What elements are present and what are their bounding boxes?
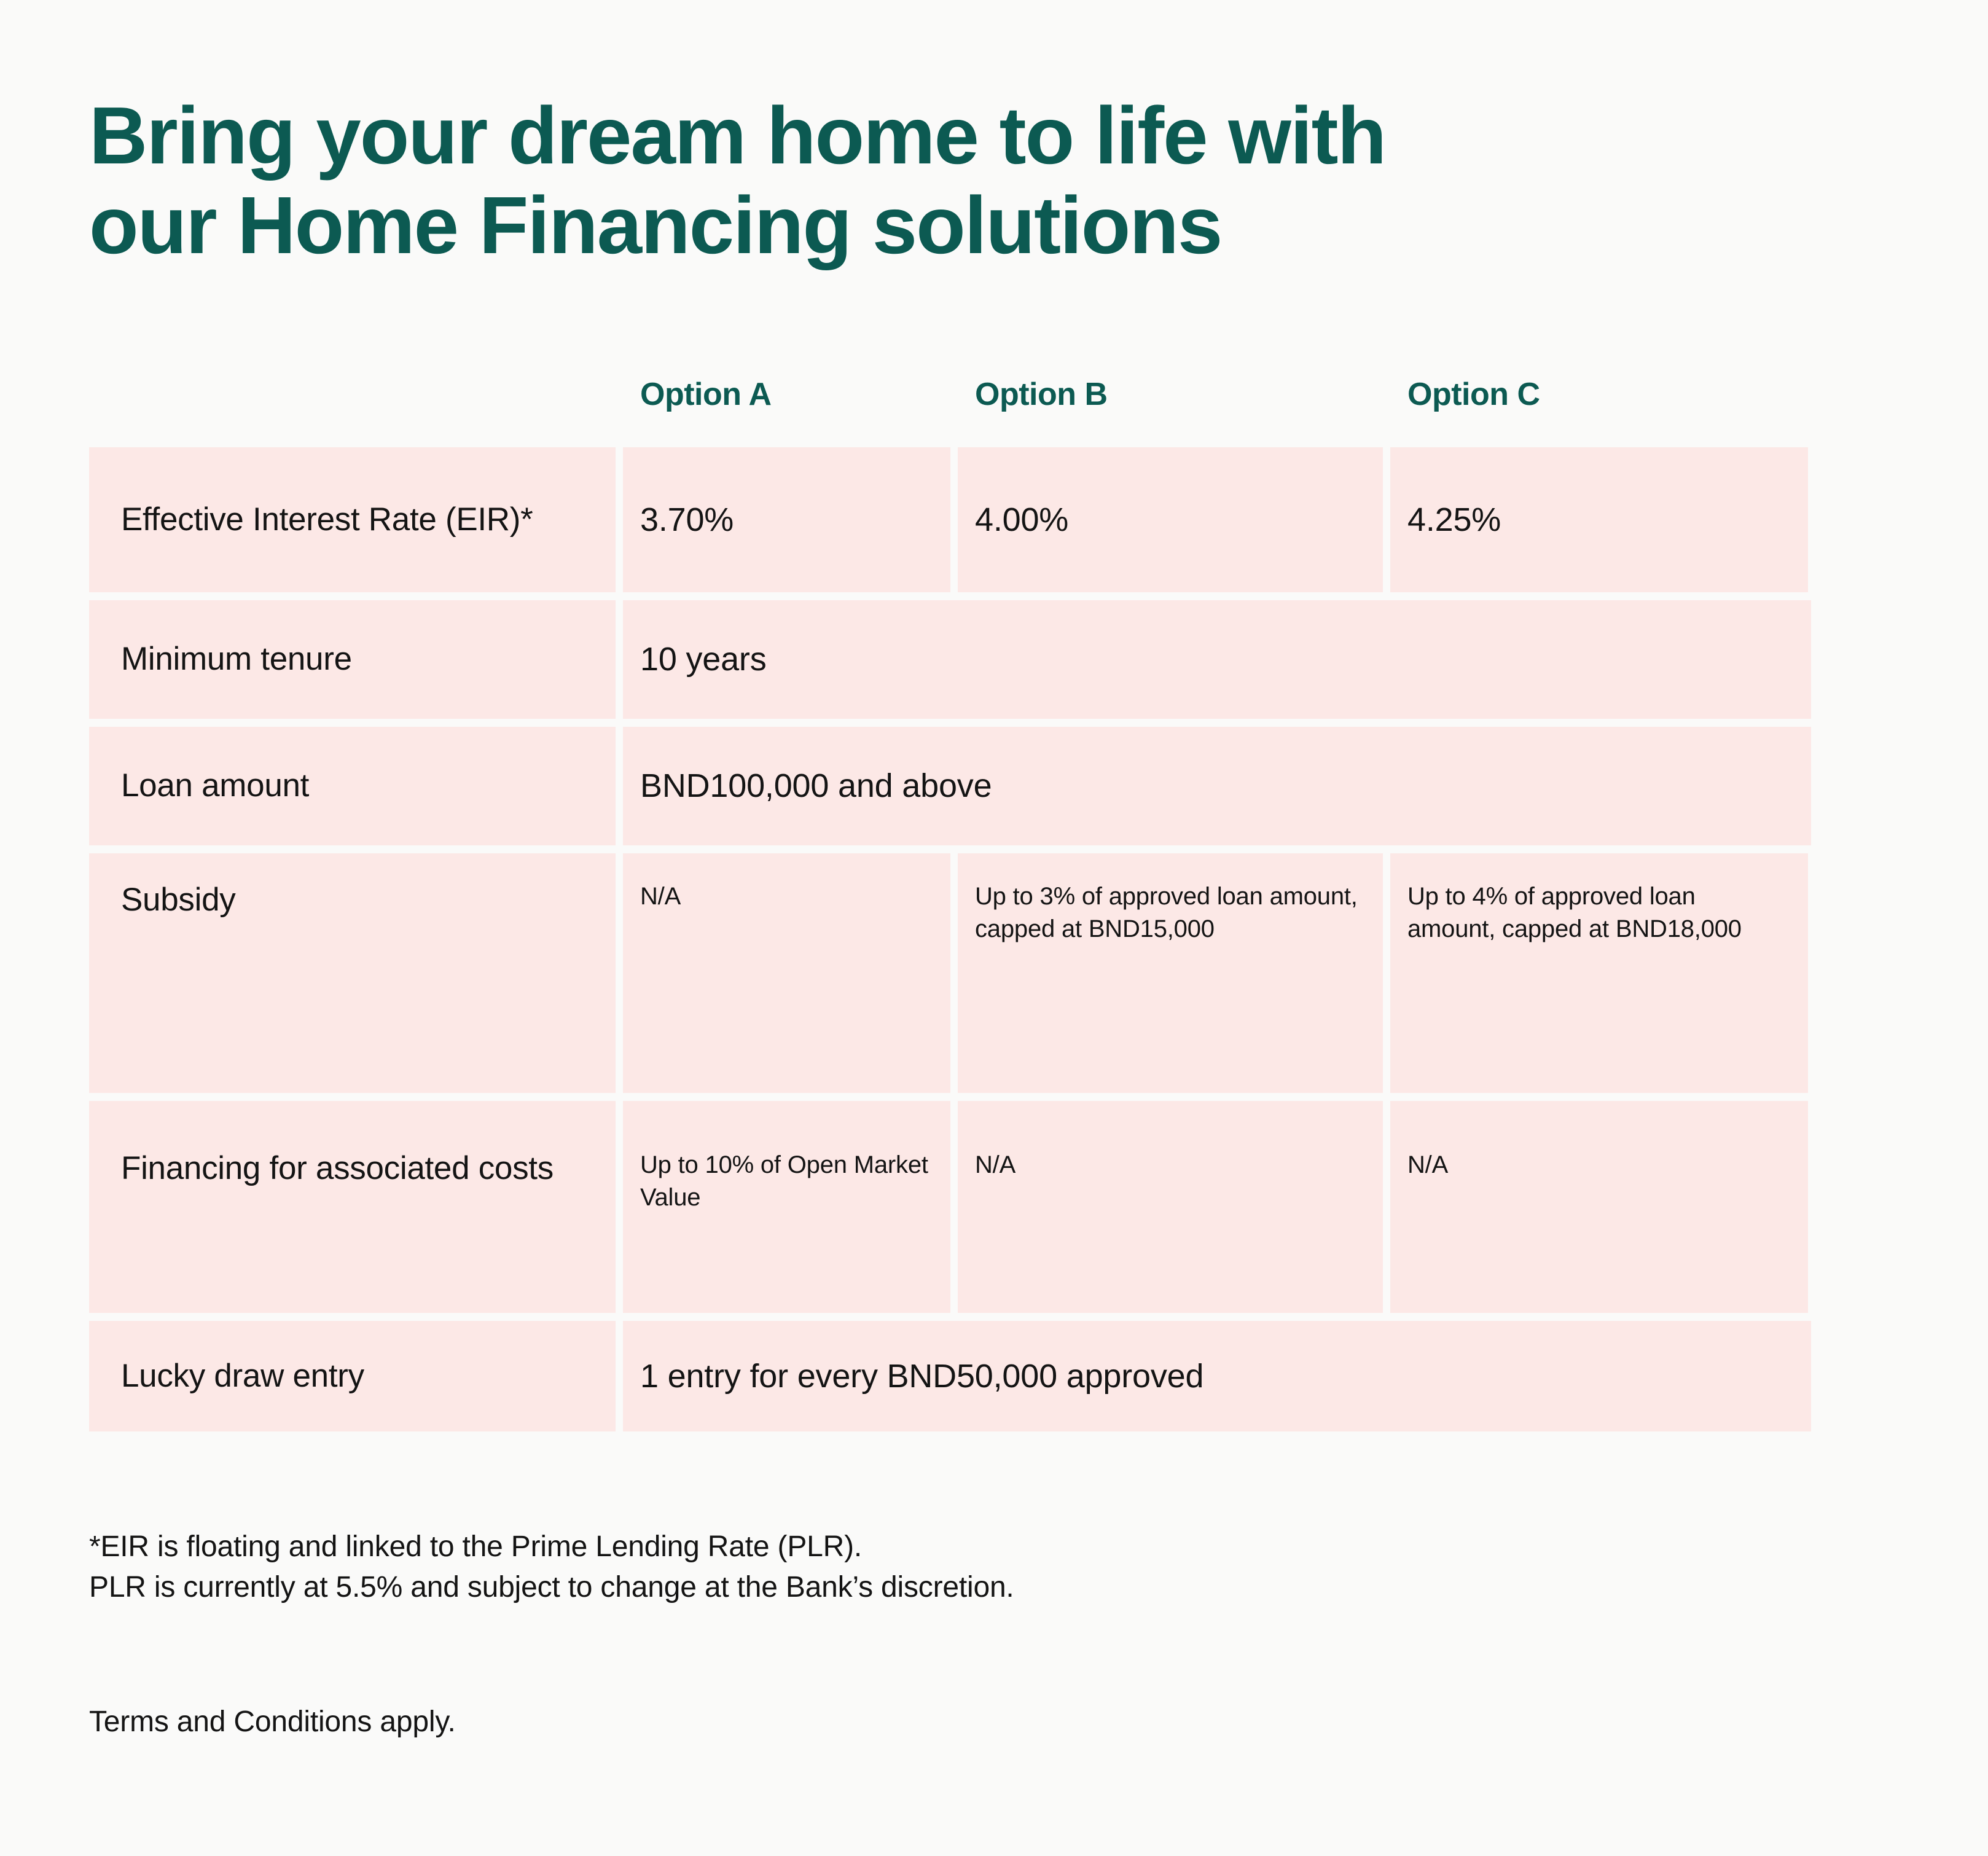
cell-subsidy-option-b: Up to 3% of approved loan amount, capped… xyxy=(958,853,1383,1093)
cell-financing-option-b: N/A xyxy=(958,1101,1383,1313)
cell-loan-amount-all-options: BND100,000 and above xyxy=(623,727,1811,845)
page-title: Bring your dream home to life with our H… xyxy=(89,91,1908,269)
cell-eir-option-b: 4.00% xyxy=(958,447,1383,592)
column-header-option-a: Option A xyxy=(623,356,950,413)
cell-subsidy-option-c: Up to 4% of approved loan amount, capped… xyxy=(1390,853,1808,1093)
row-label-loan-amount: Loan amount xyxy=(89,727,616,845)
cell-lucky-draw-all-options: 1 entry for every BND50,000 approved xyxy=(623,1321,1811,1431)
cell-eir-option-c: 4.25% xyxy=(1390,447,1808,592)
row-label-minimum-tenure: Minimum tenure xyxy=(89,600,616,719)
table-row: Loan amount BND100,000 and above xyxy=(89,727,1811,845)
column-header-option-c: Option C xyxy=(1390,356,1808,413)
cell-financing-option-a: Up to 10% of Open Market Value xyxy=(623,1101,950,1313)
promo-poster: Bring your dream home to life with our H… xyxy=(0,0,1988,1856)
cell-minimum-tenure-all-options: 10 years xyxy=(623,600,1811,719)
cell-financing-option-c: N/A xyxy=(1390,1101,1808,1313)
row-label-eir: Effective Interest Rate (EIR)* xyxy=(89,447,616,592)
footnote-block: *EIR is floating and linked to the Prime… xyxy=(89,1527,1871,1608)
row-label-lucky-draw-entry: Lucky draw entry xyxy=(89,1321,616,1431)
table-row: Subsidy N/A Up to 3% of approved loan am… xyxy=(89,853,1811,1093)
home-financing-comparison-table: Option A Option B Option C Effective Int… xyxy=(89,356,1811,1439)
footnote-eir-floating: *EIR is floating and linked to the Prime… xyxy=(89,1527,1871,1567)
table-row: Financing for associated costs Up to 10%… xyxy=(89,1101,1811,1313)
table-row: Minimum tenure 10 years xyxy=(89,600,1811,719)
column-header-option-b: Option B xyxy=(958,356,1383,413)
terms-and-conditions-note: Terms and Conditions apply. xyxy=(89,1705,456,1739)
row-label-subsidy: Subsidy xyxy=(89,853,616,1093)
cell-eir-option-a: 3.70% xyxy=(623,447,950,592)
table-row: Effective Interest Rate (EIR)* 3.70% 4.0… xyxy=(89,447,1811,592)
table-row: Lucky draw entry 1 entry for every BND50… xyxy=(89,1321,1811,1431)
row-label-financing-associated-costs: Financing for associated costs xyxy=(89,1101,616,1313)
page-title-line-1: Bring your dream home to life with xyxy=(89,91,1908,180)
page-title-line-2: our Home Financing solutions xyxy=(89,181,1908,270)
footnote-plr-rate: PLR is currently at 5.5% and subject to … xyxy=(89,1567,1871,1608)
table-header-row: Option A Option B Option C xyxy=(89,356,1811,447)
cell-subsidy-option-a: N/A xyxy=(623,853,950,1093)
